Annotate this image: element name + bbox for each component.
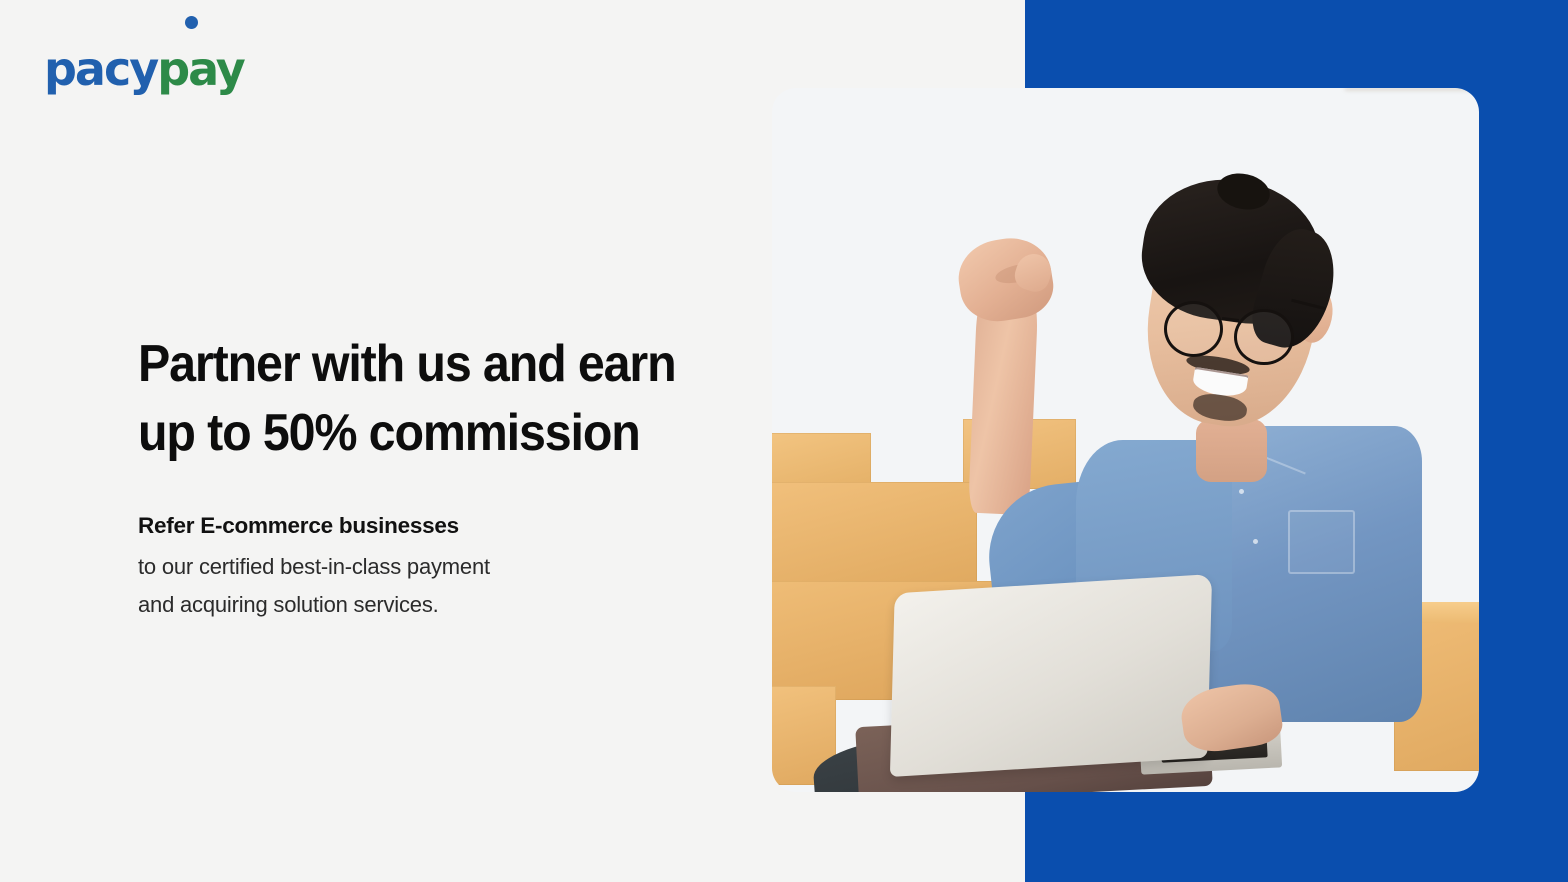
subcopy: Refer E-commerce businesses to our certi… [138, 507, 758, 623]
copy-block: Partner with us and earn up to 50% commi… [138, 330, 758, 624]
pacypay-logo[interactable]: pacy pay [44, 42, 244, 96]
glasses-lens-left [1164, 301, 1223, 357]
page-title: Partner with us and earn up to 50% commi… [138, 330, 715, 467]
logo-dot-icon [185, 16, 198, 29]
neck [1196, 419, 1267, 482]
glasses-lens-right [1234, 309, 1293, 365]
promo-banner: pacy pay Partner with us and earn up to … [0, 0, 1568, 882]
logo-text-pay: pay [157, 42, 244, 96]
subcopy-lead: Refer E-commerce businesses [138, 507, 758, 546]
logo-text-pacy: pacy [44, 42, 157, 96]
denim-chest-pocket [1288, 510, 1355, 573]
hero-photo-card [772, 88, 1479, 792]
photo-scene [772, 88, 1479, 792]
denim-button-1 [1239, 489, 1244, 494]
laptop-lid [890, 574, 1212, 777]
subcopy-body: to our certified best-in-class payment a… [138, 548, 758, 624]
denim-button-2 [1253, 539, 1258, 544]
logo-text-pay-label: pay [157, 42, 244, 96]
